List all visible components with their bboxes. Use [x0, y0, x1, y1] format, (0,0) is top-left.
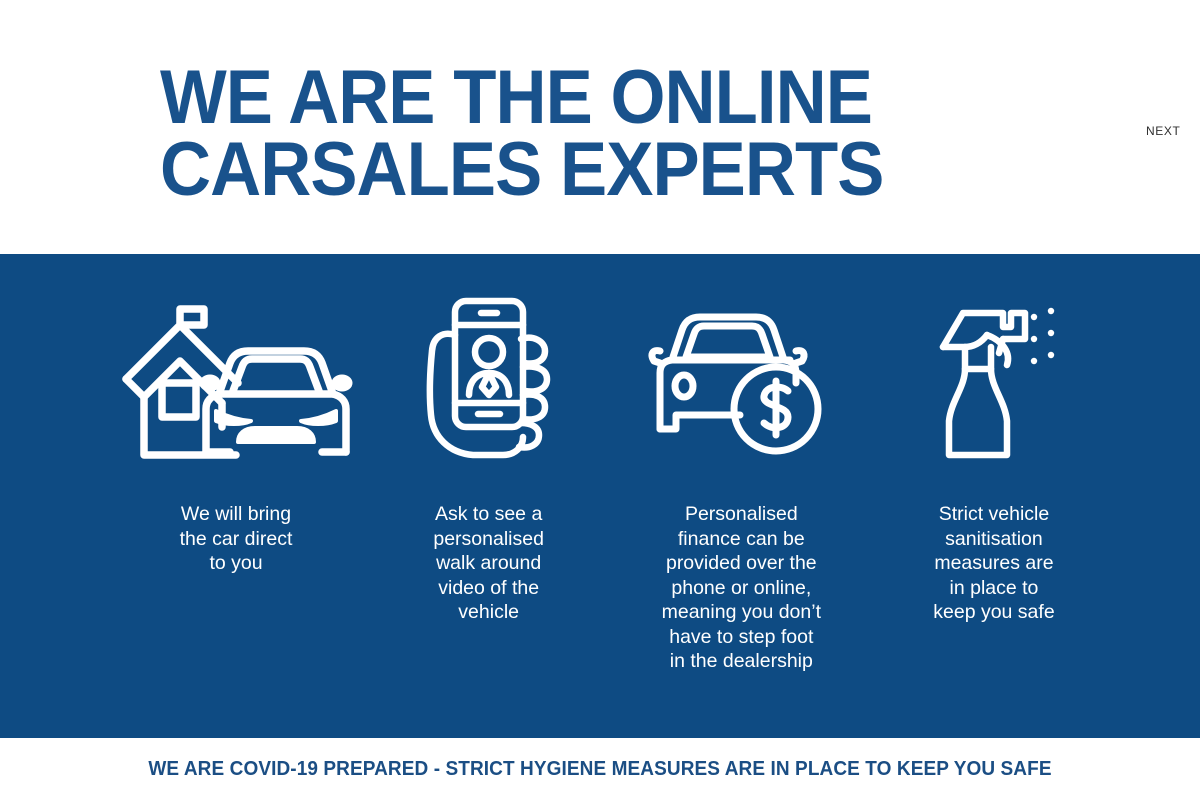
spray-bottle-icon: [929, 294, 1059, 464]
feature-item-sanitisation: Strict vehicle sanitisation measures are…: [878, 294, 1110, 625]
house-with-car-icon: [118, 294, 354, 464]
feature-caption: Strict vehicle sanitisation measures are…: [933, 502, 1054, 625]
page-title: WE ARE THE ONLINE CARSALES EXPERTS: [160, 62, 997, 206]
hand-holding-phone-icon: [421, 294, 557, 464]
next-button[interactable]: NEXT: [1146, 124, 1180, 138]
feature-caption: Personalised finance can be provided ove…: [662, 502, 821, 674]
feature-caption: We will bring the car direct to you: [180, 502, 293, 576]
feature-caption: Ask to see a personalised walk around vi…: [433, 502, 544, 625]
feature-item-finance: Personalised finance can be provided ove…: [625, 294, 857, 674]
promotional-banner: WE ARE THE ONLINE CARSALES EXPERTS NEXT: [0, 0, 1200, 800]
headline-area: WE ARE THE ONLINE CARSALES EXPERTS NEXT: [0, 0, 1200, 254]
feature-item-video-walkaround: Ask to see a personalised walk around vi…: [373, 294, 605, 625]
footer-band: WE ARE COVID-19 PREPARED - STRICT HYGIEN…: [0, 738, 1200, 800]
covid-notice: WE ARE COVID-19 PREPARED - STRICT HYGIEN…: [30, 758, 1170, 781]
features-row: We will bring the car direct to you: [120, 294, 1110, 714]
features-band: We will bring the car direct to you: [0, 254, 1200, 738]
car-with-dollar-coin-icon: [648, 294, 834, 464]
feature-item-home-delivery: We will bring the car direct to you: [120, 294, 352, 576]
